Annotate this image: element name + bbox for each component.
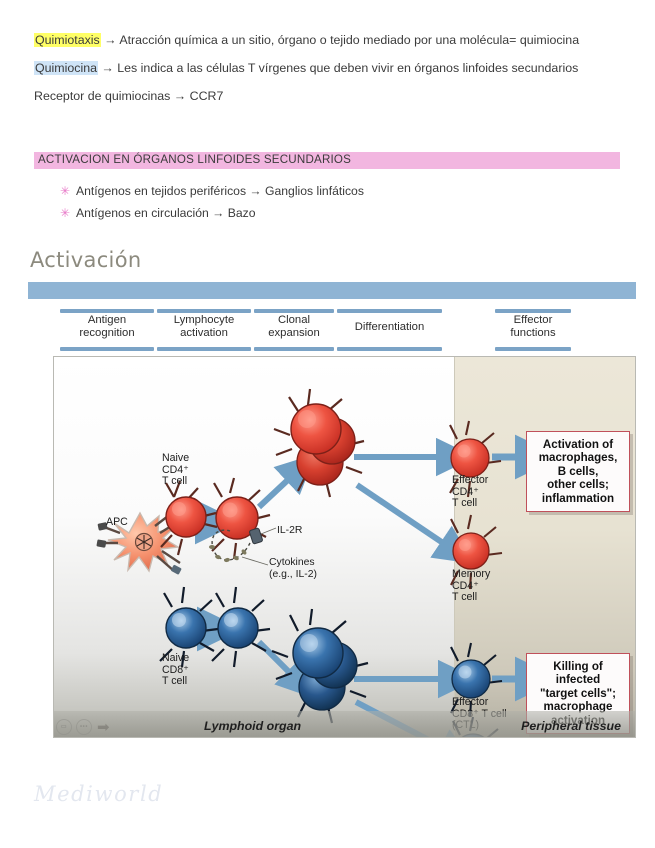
label-cytokines: Cytokines (e.g., IL-2) — [269, 557, 317, 580]
notes-block: Quimiotaxis → Atracción química a un sit… — [34, 32, 622, 116]
label-il2r: IL-2R — [277, 525, 302, 537]
pink-heading-text: ACTIVACION EN ÓRGANOS LINFOIDES SECUNDAR… — [38, 153, 351, 166]
bullet-text: Antígenos en circulación → Bazo — [76, 206, 256, 221]
stage-header-row: Antigen recognition Lymphocyte activatio… — [28, 309, 636, 351]
bullet-star-icon: ✳ — [60, 206, 76, 221]
activated-cd4-cell — [209, 478, 276, 565]
list-item: ✳ Antígenos en circulación → Bazo — [60, 206, 620, 221]
stage-label: Effector functions — [495, 314, 571, 339]
pink-heading-bar: ACTIVACION EN ÓRGANOS LINFOIDES SECUNDAR… — [34, 152, 620, 169]
stage-label: Antigen recognition — [60, 314, 154, 339]
stage-rule-bottom — [337, 347, 442, 351]
stage-rule-top — [60, 309, 154, 313]
stage-antigen-recognition: Antigen recognition — [60, 309, 154, 351]
note-line-quimiocina: Quimiocina → Les indica a las células T … — [34, 60, 622, 77]
slide-figure: Antigen recognition Lymphocyte activatio… — [28, 282, 636, 757]
stage-effector-functions: Effector functions — [495, 309, 571, 351]
stage-rule-top — [495, 309, 571, 313]
stage-lymphocyte-activation: Lymphocyte activation — [157, 309, 251, 351]
stage-clonal-expansion: Clonal expansion — [254, 309, 334, 351]
note-text-quimiotaxis: → Atracción química a un sitio, órgano o… — [101, 33, 579, 47]
term-quimiocina: Quimiocina — [34, 61, 98, 75]
term-quimiotaxis: Quimiotaxis — [34, 33, 101, 47]
result-box-activation: Activation of macrophages, B cells, othe… — [526, 431, 630, 512]
label-naive-cd8: Naive CD8⁺ T cell — [162, 653, 189, 688]
diagram-frame: Naive CD4⁺ T cell APC IL-2R Cytokines (e… — [53, 356, 636, 738]
stage-label: Differentiation — [337, 321, 442, 334]
minimize-icon[interactable]: ▭ — [56, 719, 72, 735]
stage-rule-top — [337, 309, 442, 313]
label-lymphoid-organ: Lymphoid organ — [204, 719, 301, 733]
label-apc: APC — [106, 517, 128, 529]
activated-cd8-cell — [212, 587, 270, 667]
minimize-glyph: ▭ — [61, 724, 67, 730]
bullet-star-icon: ✳ — [60, 184, 76, 199]
slide-top-bar — [28, 282, 636, 299]
stage-rule-bottom — [254, 347, 334, 351]
label-naive-cd4: Naive CD4⁺ T cell — [162, 453, 189, 488]
bullet-list: ✳ Antígenos en tejidos periféricos → Gan… — [60, 184, 620, 228]
player-controls[interactable]: ▭ ••• ➡ — [56, 719, 110, 735]
watermark: Mediworld — [34, 782, 163, 806]
stage-rule-top — [254, 309, 334, 313]
note-text-quimiocina: → Les indica a las células T vírgenes qu… — [98, 61, 578, 75]
stage-label: Clonal expansion — [254, 314, 334, 339]
page-title: Activación — [30, 248, 141, 272]
play-arrow-icon[interactable]: ➡ — [97, 720, 110, 735]
note-line-quimiotaxis: Quimiotaxis → Atracción química a un sit… — [34, 32, 622, 49]
label-effector-cd4: Effector CD4⁺ T cell — [452, 475, 488, 510]
note-text-receptor: Receptor de quimiocinas → CCR7 — [34, 89, 223, 103]
stage-rule-bottom — [60, 347, 154, 351]
page-root: Quimiotaxis → Atracción química a un sit… — [0, 0, 655, 848]
label-peripheral-tissue: Peripheral tissue — [521, 719, 621, 733]
stage-differentiation: Differentiation — [337, 309, 442, 351]
stage-rule-bottom — [495, 347, 571, 351]
list-item: ✳ Antígenos en tejidos periféricos → Gan… — [60, 184, 620, 199]
bullet-text: Antígenos en tejidos periféricos → Gangl… — [76, 184, 364, 199]
more-options-glyph: ••• — [80, 724, 88, 730]
stage-rule-top — [157, 309, 251, 313]
stage-label: Lymphocyte activation — [157, 314, 251, 339]
stage-rule-bottom — [157, 347, 251, 351]
label-memory-cd4: Memory CD4⁺ T cell — [452, 569, 490, 604]
more-options-icon[interactable]: ••• — [76, 719, 92, 735]
note-line-receptor: Receptor de quimiocinas → CCR7 — [34, 88, 622, 105]
